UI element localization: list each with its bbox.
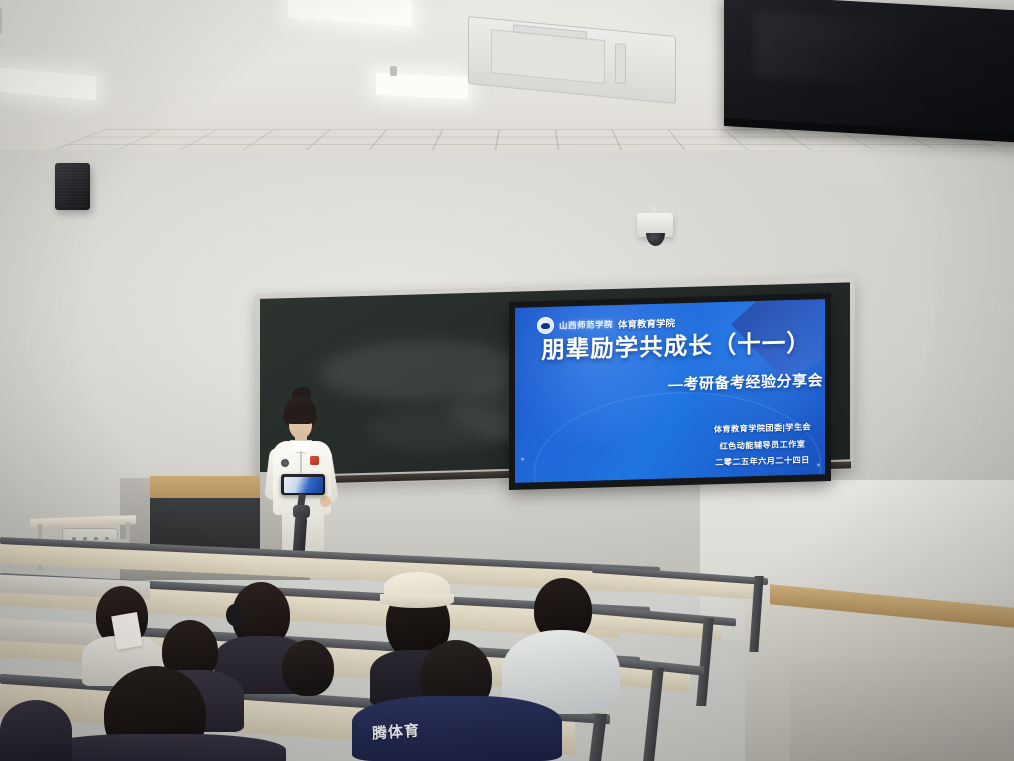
presentation-slide: 山西师范学院 体育教育学院 朋辈励学共成长（十一） —考研备考经验分享会 体育教… <box>515 299 825 483</box>
console-wood-top <box>150 476 262 500</box>
shirt-emblem <box>310 456 319 465</box>
shirt-placket <box>300 451 302 473</box>
speaker-grille <box>58 166 87 207</box>
audience-head <box>282 640 334 696</box>
cap-brim <box>380 594 454 608</box>
gimbal-handle <box>293 516 308 555</box>
audience-body <box>36 734 286 761</box>
aisle-floor-step <box>790 660 1014 761</box>
slide-footer: 体育教育学院团委|学生会 红色动能辅导员工作室 二零二五年六月二十四日 <box>714 421 811 469</box>
sprinkler-head <box>390 66 397 76</box>
wall-speaker <box>55 163 90 210</box>
glasses-icon <box>288 420 313 427</box>
handout-paper <box>111 612 143 650</box>
audience-head <box>0 700 72 761</box>
audience-headphones-icon <box>226 604 243 626</box>
phone-screen <box>284 477 323 493</box>
projection-screen: 山西师范学院 体育教育学院 朋辈励学共成长（十一） —考研备考经验分享会 体育教… <box>509 293 831 490</box>
overhead-display <box>724 0 1014 143</box>
slide-footer-line: 红色动能辅导员工作室 <box>714 437 811 452</box>
slide-corner-dot <box>521 458 524 461</box>
display-glare <box>754 12 919 87</box>
phone-gimbal <box>281 474 325 554</box>
university-name-script: 山西师范学院 <box>559 318 613 332</box>
speaker-bracket <box>0 8 2 34</box>
slide-footer-line: 体育教育学院团委|学生会 <box>714 421 811 436</box>
university-emblem-icon <box>537 317 554 334</box>
ac-vent <box>615 43 626 84</box>
college-name: 体育教育学院 <box>618 315 675 331</box>
smartphone <box>281 474 325 495</box>
ac-grille <box>491 29 605 84</box>
lecture-hall-photo: 山西师范学院 体育教育学院 朋辈励学共成长（十一） —考研备考经验分享会 体育教… <box>0 0 1014 761</box>
shirt-badge <box>281 459 289 467</box>
shirt-print-text: 腾体育 <box>371 719 420 743</box>
ceiling-grid-line <box>66 145 995 146</box>
